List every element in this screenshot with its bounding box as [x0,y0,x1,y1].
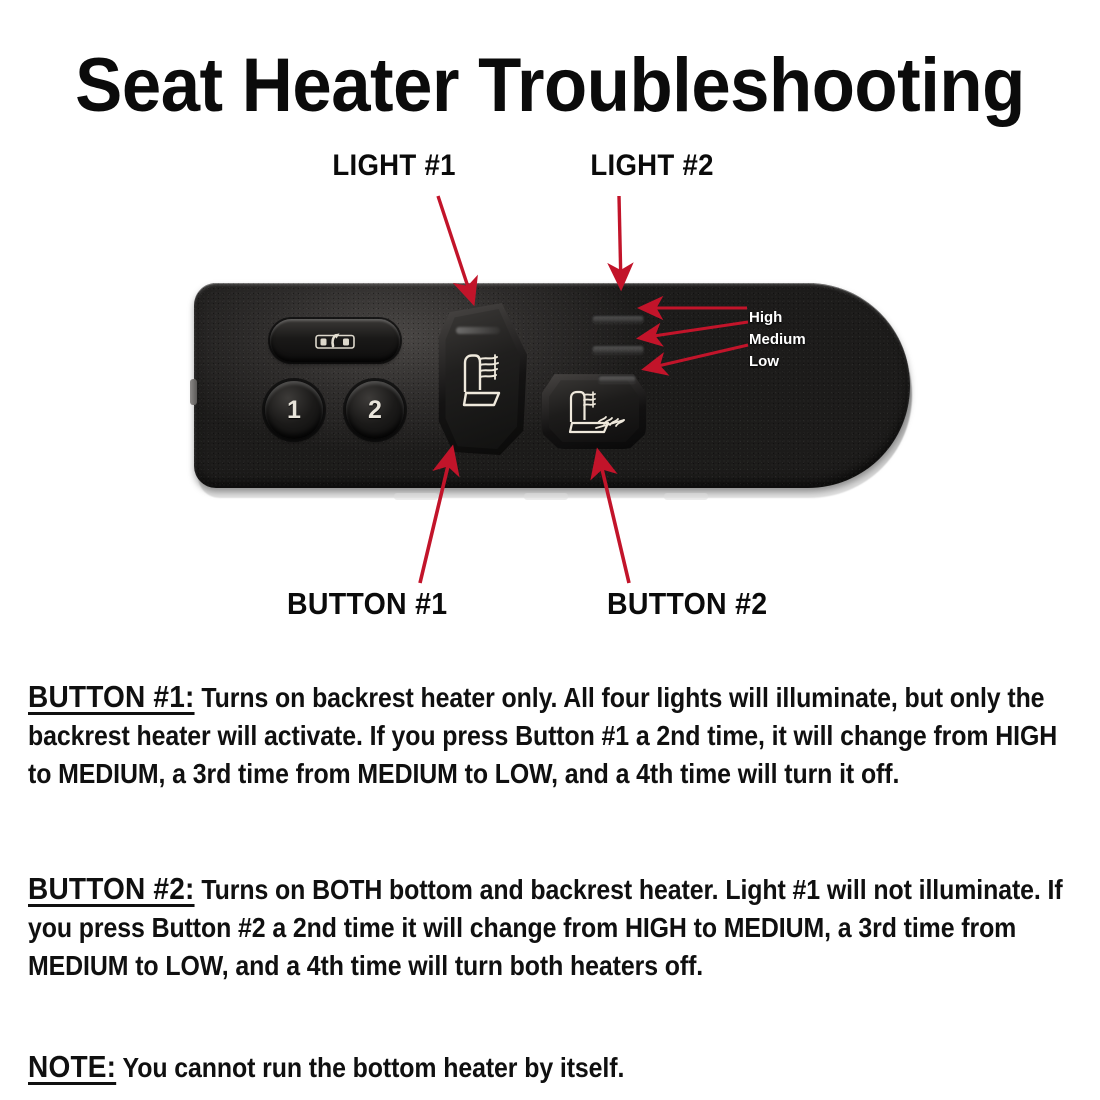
panel-bottom-notch-mid [524,493,568,500]
seat-memory-icon [313,329,357,353]
seat-full-heat-icon [556,384,632,436]
instruction-paragraph-button-1: BUTTON #1: Turns on backrest heater only… [28,678,1073,793]
indicator-label-low: Low [749,353,779,370]
callout-label-button-2: BUTTON #2 [607,588,767,620]
memory-preset-2-label: 2 [368,396,382,425]
indicator-light-high [592,315,644,323]
instruction-lead-note: NOTE: [28,1049,116,1084]
callout-label-light-1: LIGHT #1 [332,150,455,182]
page-title: Seat Heater Troubleshooting [39,46,1062,126]
indicator-light-low [598,375,636,383]
indicator-label-high: High [749,309,782,326]
both-heaters-button[interactable] [549,377,639,442]
instruction-paragraph-note: NOTE: You cannot run the bottom heater b… [28,1048,1073,1087]
indicator-light-medium [592,345,644,354]
seat-heater-control-panel: 1 2 [194,283,914,498]
instruction-lead-button-1: BUTTON #1: [28,679,195,714]
instruction-lead-button-2: BUTTON #2: [28,871,195,906]
instruction-paragraph-button-2: BUTTON #2: Turns on BOTH bottom and back… [28,870,1073,985]
panel-bottom-notch-left [394,493,438,500]
callout-label-button-1: BUTTON #1 [287,588,447,620]
panel-side-tab [190,379,197,405]
instructions-block: BUTTON #1: Turns on backrest heater only… [28,678,1074,1078]
panel-bottom-notch-right [664,493,708,500]
memory-set-button[interactable] [270,319,400,362]
arrow-light-2 [619,196,621,287]
seat-backrest-heat-icon [451,344,513,414]
memory-preset-2-button[interactable]: 2 [346,381,404,439]
indicator-label-medium: Medium [749,331,806,348]
button-gloss-highlight [456,327,500,334]
memory-preset-1-label: 1 [287,396,301,425]
callout-label-light-2: LIGHT #2 [590,150,713,182]
memory-preset-1-button[interactable]: 1 [265,381,323,439]
panel-body: 1 2 [194,283,910,488]
instruction-text-note: You cannot run the bottom heater by itse… [116,1052,624,1083]
